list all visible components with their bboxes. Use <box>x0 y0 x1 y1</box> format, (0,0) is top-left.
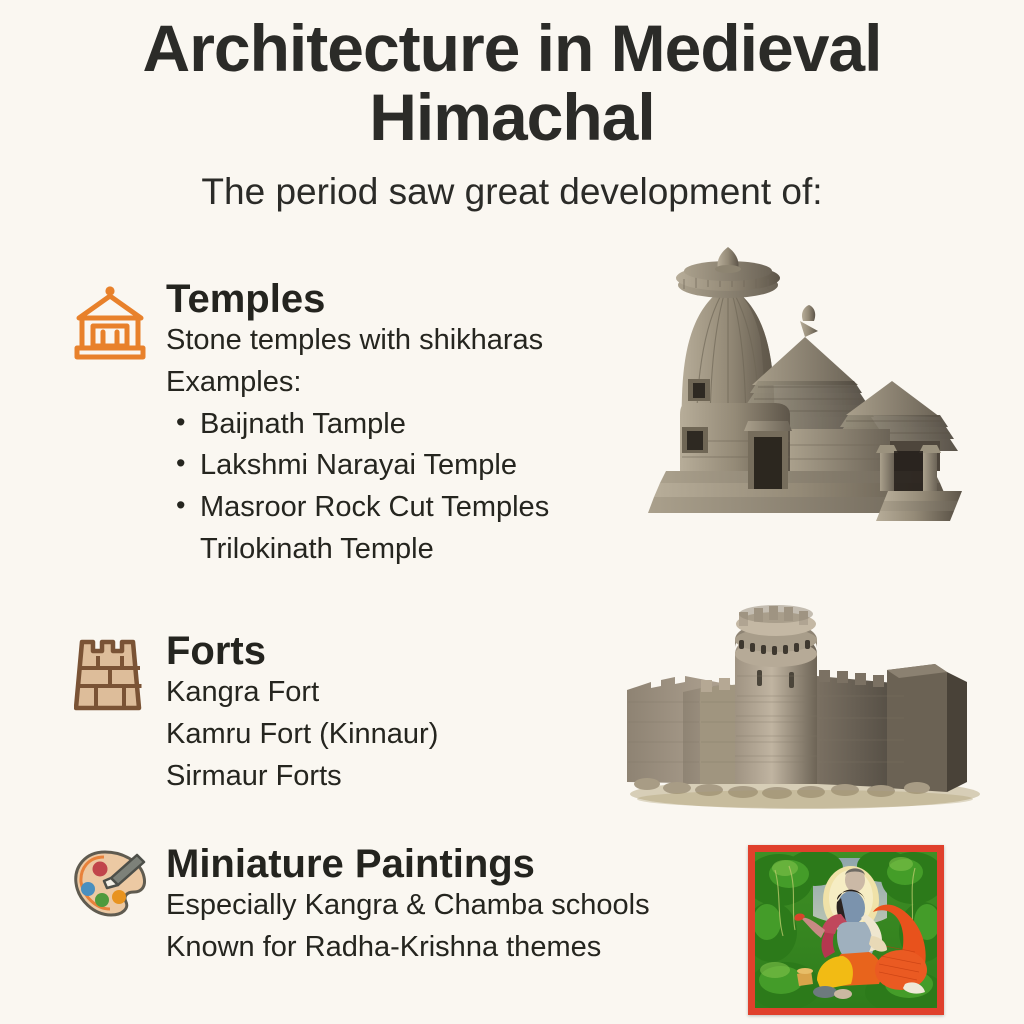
forts-line-2: Kamru Fort (Kinnaur) <box>166 714 438 756</box>
artist-palette-icon <box>62 843 158 921</box>
section-forts: Forts Kangra Fort Kamru Fort (Kinnaur) S… <box>62 630 438 797</box>
page-subtitle: The period saw great development of: <box>0 171 1024 213</box>
stone-fort-illustration <box>605 592 1000 814</box>
stone-temple-illustration <box>640 245 975 535</box>
list-item: Lakshmi Narayai Temple <box>166 445 549 487</box>
section-title-forts: Forts <box>166 630 438 672</box>
forts-line-1: Kangra Fort <box>166 672 438 714</box>
painting-content: Miniature Paintings Especially Kangra & … <box>158 843 650 969</box>
section-title-miniature-paintings: Miniature Paintings <box>166 843 650 885</box>
list-item: Baijnath Tample <box>166 404 549 446</box>
page-title: Architecture in Medieval Himachal <box>0 14 1024 151</box>
list-item: Trilokinath Temple <box>166 529 549 571</box>
header: Architecture in Medieval Himachal The pe… <box>0 0 1024 213</box>
radha-krishna-miniature-painting <box>748 845 944 1015</box>
list-item: Masroor Rock Cut Temples <box>166 487 549 529</box>
section-temples: Temples Stone temples with shikharas Exa… <box>62 278 549 571</box>
temples-examples-label: Examples: <box>166 362 549 404</box>
temples-content: Temples Stone temples with shikharas Exa… <box>158 278 549 571</box>
forts-content: Forts Kangra Fort Kamru Fort (Kinnaur) S… <box>158 630 438 797</box>
forts-line-3: Sirmaur Forts <box>166 756 438 798</box>
painting-line-1: Especially Kangra & Chamba schools <box>166 885 650 927</box>
temples-example-list: Baijnath Tample Lakshmi Narayai Temple M… <box>166 404 549 571</box>
temples-desc-line-1: Stone temples with shikharas <box>166 320 549 362</box>
temple-outline-icon <box>62 278 158 362</box>
painting-line-2: Known for Radha-Krishna themes <box>166 927 650 969</box>
painting-frame <box>748 845 944 1015</box>
brick-fort-icon <box>62 630 158 712</box>
section-title-temples: Temples <box>166 278 549 320</box>
section-miniature-paintings: Miniature Paintings Especially Kangra & … <box>62 843 650 969</box>
